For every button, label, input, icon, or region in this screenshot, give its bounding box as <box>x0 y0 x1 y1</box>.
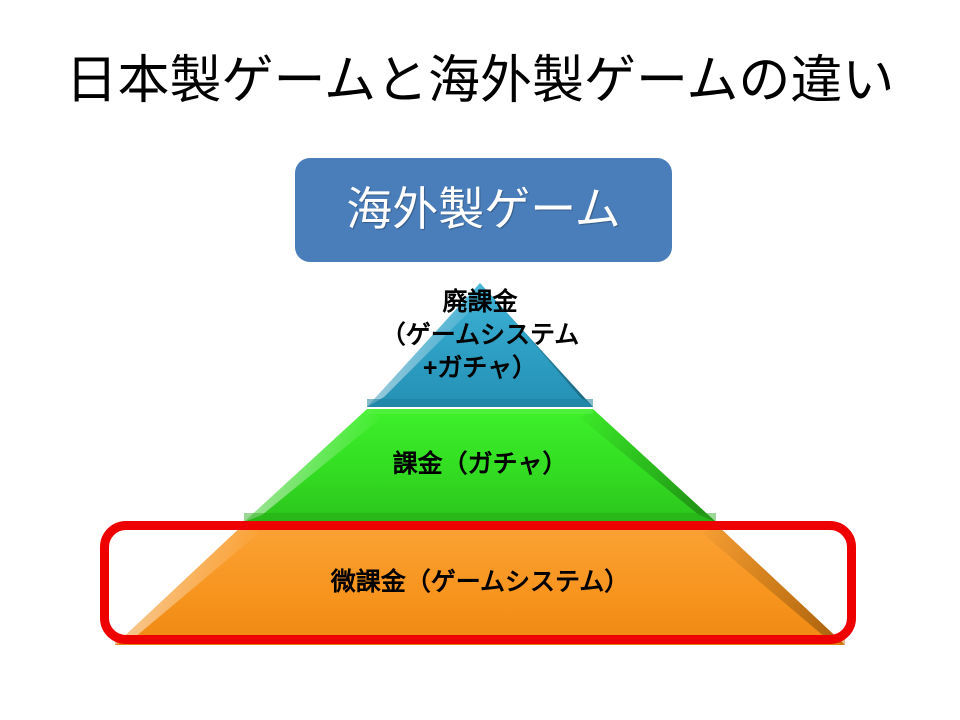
red-highlight-rectangle <box>100 521 856 644</box>
page-title: 日本製ゲームと海外製ゲームの違い <box>0 52 960 112</box>
tier-top-caption: 廃課金 （ゲームシステム +ガチャ） <box>230 286 730 385</box>
tier-middle-caption: 課金（ガチャ） <box>230 448 730 480</box>
slide-canvas: 日本製ゲームと海外製ゲームの違い 海外製ゲーム <box>0 0 960 720</box>
category-label-box[interactable]: 海外製ゲーム <box>295 158 672 262</box>
tier-middle-top-highlight <box>367 409 593 414</box>
category-label-text: 海外製ゲーム <box>346 185 621 235</box>
tier-top-base-shadow <box>367 399 593 407</box>
